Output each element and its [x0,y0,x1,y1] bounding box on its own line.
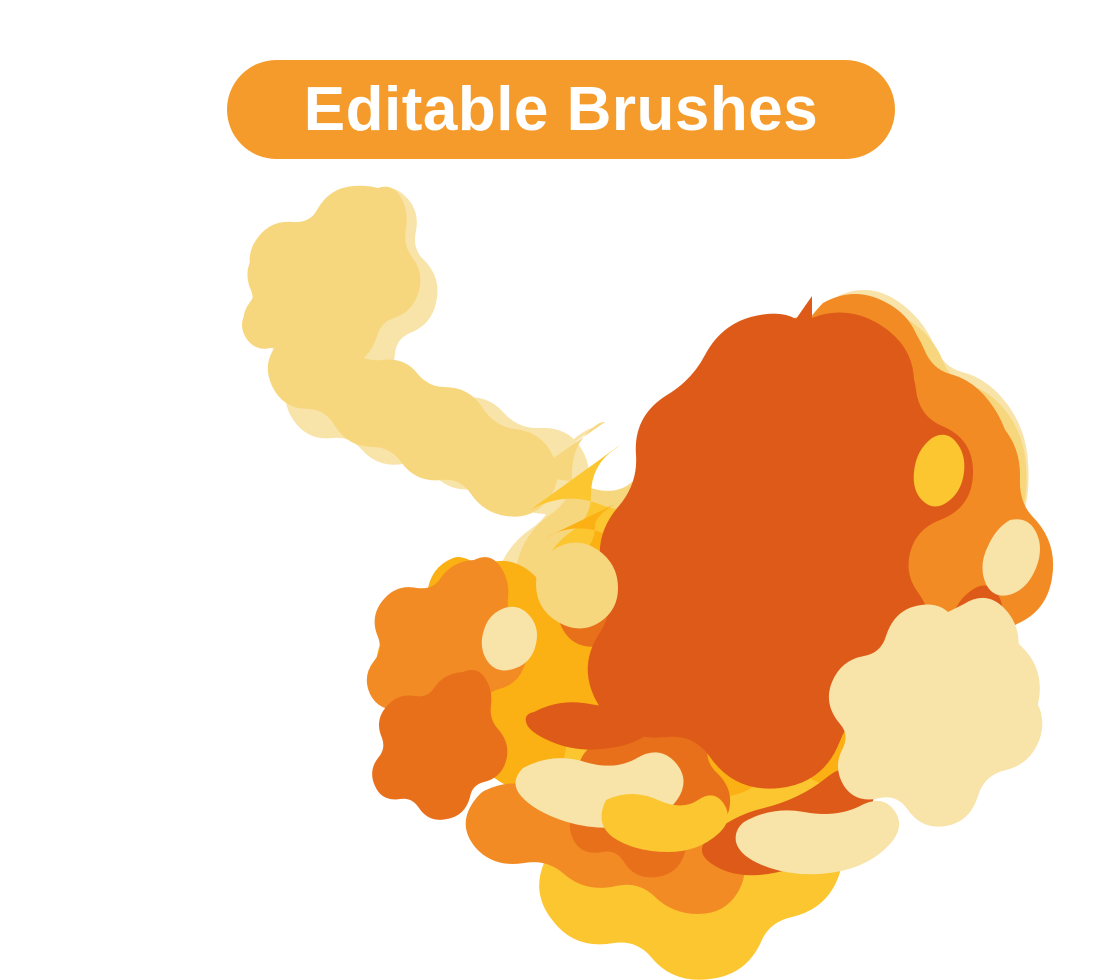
badge-label: Editable Brushes [304,79,818,141]
illustration-canvas: Editable Brushes [0,0,1120,980]
editable-brushes-badge[interactable]: Editable Brushes [227,60,895,159]
